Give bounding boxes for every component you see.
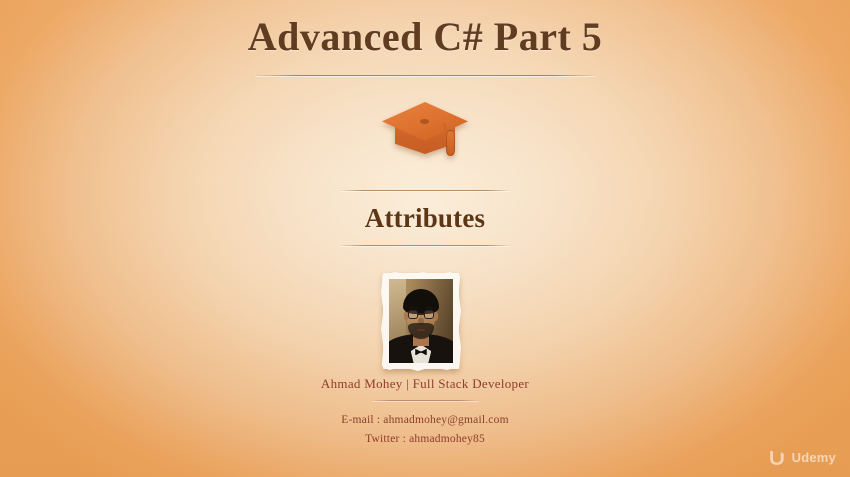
cap-tassel [446,130,455,156]
presenter-photo [383,273,459,369]
presenter-info: Ahmad Mohey | Full Stack Developer E-mai… [0,376,850,449]
title-block: Advanced C# Part 5 [0,16,850,76]
portrait-image [389,279,453,363]
course-slide: Advanced C# Part 5 Attributes [0,0,850,477]
title-divider [255,75,595,76]
portrait-eyebrow-left [408,307,418,309]
portrait-eyebrow-right [425,307,435,309]
page-title: Advanced C# Part 5 [0,16,850,58]
portrait-glasses-bridge [418,313,424,314]
subtitle-divider-bottom [340,245,510,246]
graduation-cap-icon [380,96,470,166]
presenter-name: Ahmad Mohey | Full Stack Developer [0,376,850,392]
portrait-glasses-right [424,310,434,319]
presenter-email: E-mail : ahmadmohey@gmail.com [0,411,850,430]
portrait-glasses-left [408,310,418,319]
subtitle-divider-top [340,190,510,191]
cap-button [420,119,429,124]
lesson-subtitle: Attributes [0,203,850,234]
subtitle-block: Attributes [0,190,850,246]
presenter-twitter: Twitter : ahmadmohey85 [0,430,850,449]
udemy-u-logo-icon [768,450,787,465]
graduation-cap-icon-wrap [0,96,850,174]
udemy-watermark: Udemy [768,450,836,465]
udemy-watermark-label: Udemy [792,450,836,465]
presenter-divider [372,400,478,401]
